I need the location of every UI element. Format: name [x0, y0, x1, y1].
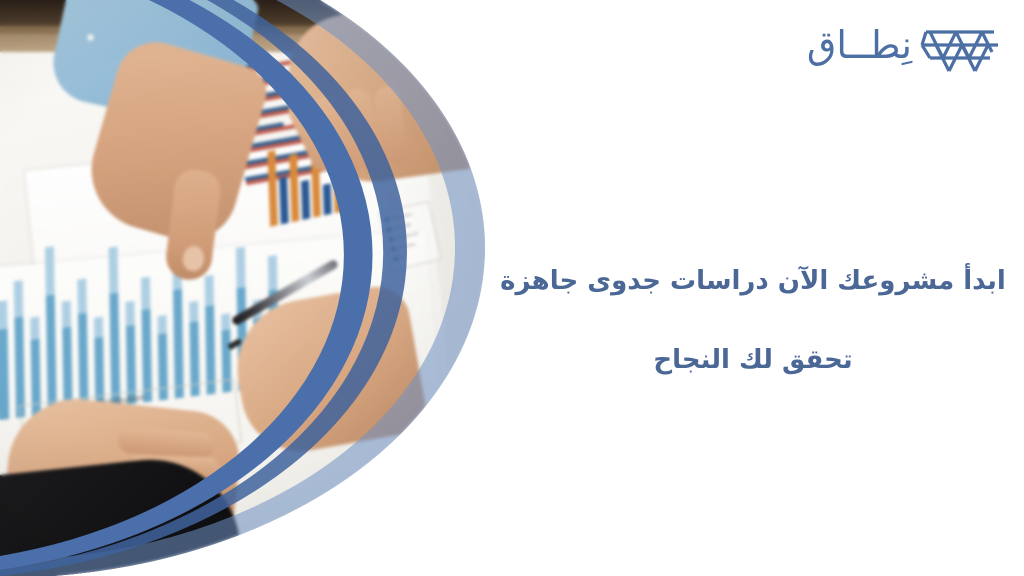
- sleeve-button: [87, 34, 94, 41]
- photo-panel: Revenue by segment Total revenueGross pr…: [0, 0, 500, 576]
- vertical-bar-cap: [268, 255, 278, 290]
- vertical-bar-cap: [77, 279, 87, 314]
- headline-line-1: ابدأ مشروعك الآن دراسات جدوى جاهزة: [496, 266, 1010, 297]
- vertical-bar-cap: [109, 246, 119, 293]
- chart-legend-swatch: [387, 227, 392, 232]
- chart-legend-swatch: [384, 217, 389, 222]
- vertical-bar-cap: [0, 300, 8, 329]
- headline-block: ابدأ مشروعك الآن دراسات جدوى جاهزة تحقق …: [496, 266, 1010, 376]
- vertical-bar: [109, 293, 120, 407]
- vertical-bar: [46, 294, 57, 414]
- business-photo: Revenue by segment Total revenueGross pr…: [0, 0, 500, 576]
- column-bar: [289, 154, 299, 223]
- vertical-bar-cap: [158, 315, 167, 334]
- triangular-lattice-logo-icon: [920, 14, 1000, 76]
- vertical-bar-cap: [141, 277, 150, 310]
- column-bar: [323, 183, 332, 215]
- column-bar: [267, 150, 277, 227]
- column-bar: [279, 176, 288, 224]
- chart-legend-swatch: [389, 237, 394, 242]
- chart-legend-swatch: [393, 256, 398, 261]
- vertical-bar-cap: [30, 317, 39, 340]
- chart-legend-swatch: [391, 247, 396, 252]
- column-bar: [345, 187, 354, 211]
- vertical-bar: [173, 289, 184, 399]
- vertical-bar-cap: [94, 317, 103, 338]
- vertical-bar: [14, 316, 25, 418]
- vertical-bar-cap: [221, 313, 230, 330]
- vertical-bar-cap: [205, 275, 214, 306]
- chart-legend-label: Tax: [399, 255, 405, 260]
- promo-banner: Revenue by segment Total revenueGross pr…: [0, 0, 1024, 576]
- brand-logo[interactable]: نِطــاق: [807, 14, 1000, 76]
- column-bar: [301, 180, 310, 220]
- headline-line-2: تحقق لك النجاح: [496, 345, 1010, 376]
- vertical-bar-cap: [189, 301, 198, 322]
- vertical-bar-cap: [236, 247, 246, 288]
- vertical-bar-cap: [14, 280, 24, 317]
- vertical-bar-cap: [45, 246, 55, 295]
- vertical-bar-cap: [125, 301, 134, 326]
- vertical-bar: [0, 328, 9, 420]
- vertical-bar-cap: [62, 301, 71, 328]
- brand-wordmark: نِطــاق: [807, 26, 912, 64]
- vertical-bar: [78, 313, 89, 411]
